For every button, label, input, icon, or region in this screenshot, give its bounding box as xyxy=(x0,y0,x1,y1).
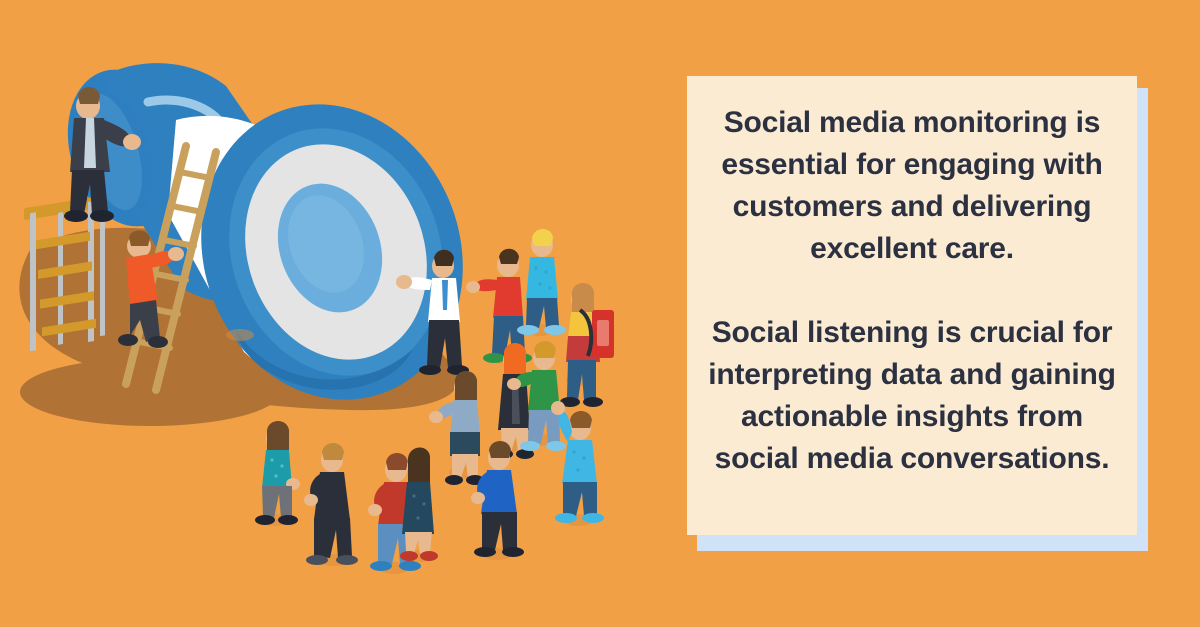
megaphone-crowd-illustration xyxy=(0,0,680,627)
text-card: Social media monitoring is essential for… xyxy=(687,76,1137,535)
paragraph-social-listening: Social listening is crucial for interpre… xyxy=(705,312,1119,480)
paragraph-social-media-monitoring: Social media monitoring is essential for… xyxy=(705,102,1119,270)
poster-canvas: Social media monitoring is essential for… xyxy=(0,0,1200,627)
